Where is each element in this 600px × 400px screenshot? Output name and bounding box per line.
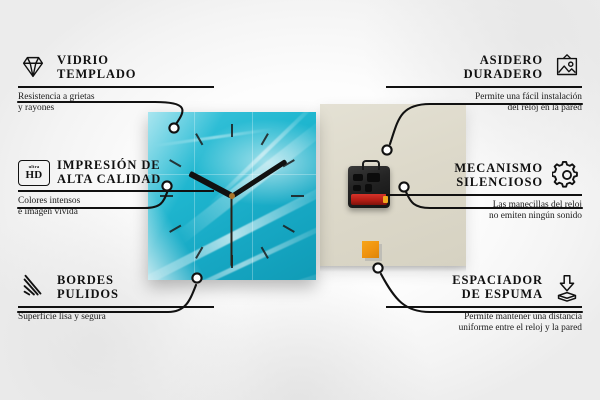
feature-desc-line1: Superficie lisa y segura (18, 312, 214, 324)
foam-spacer (362, 241, 379, 258)
feature-espaciador-de-espuma: ESPACIADOR DE ESPUMA Permite mantener un… (386, 272, 582, 335)
feature-asidero-duradero: ASIDERO DURADERO Permite una fácil insta… (386, 52, 582, 115)
feature-title: BORDES PULIDOS (57, 273, 119, 301)
polished-edges-icon (18, 272, 48, 302)
feature-desc-line1: Las manecillas del reloj (386, 200, 582, 212)
feature-title: IMPRESIÓN DE ALTA CALIDAD (57, 158, 161, 186)
feature-divider (386, 86, 582, 88)
feature-heading: ultra HD IMPRESIÓN DE ALTA CALIDAD (18, 158, 214, 186)
feature-divider (18, 86, 214, 88)
movement-slot (365, 184, 372, 192)
feature-desc-line2: y rayones (18, 103, 214, 115)
feature-title: VIDRIO TEMPLADO (57, 53, 136, 81)
infographic-canvas: VIDRIO TEMPLADO Resistencia a grietas y … (0, 0, 600, 400)
hour-tick (232, 195, 304, 197)
ultra-hd-icon: ultra HD (18, 160, 48, 184)
feature-desc-line2: no emiten ningún sonido (386, 211, 582, 223)
feature-divider (386, 194, 582, 196)
movement-slot (353, 174, 363, 181)
foam-spacer-icon (552, 272, 582, 302)
feature-desc-line2: uniforme entre el reloj y la pared (386, 323, 582, 335)
ultra-hd-large-label: HD (25, 170, 42, 181)
feature-desc-line1: Permite una fácil instalación (386, 92, 582, 104)
feature-divider (18, 306, 214, 308)
feature-desc-line2: del reloj en la pared (386, 103, 582, 115)
gear-icon (552, 160, 582, 190)
movement-slot (353, 185, 361, 191)
print-streak (154, 128, 273, 148)
feature-impresion-alta-calidad: ultra HD IMPRESIÓN DE ALTA CALIDAD Color… (18, 158, 214, 219)
clock-battery (351, 194, 387, 205)
diamond-icon (18, 52, 48, 82)
wall-hanger (362, 160, 380, 170)
feature-title: ASIDERO DURADERO (464, 53, 543, 81)
feature-desc-line2: e imagen vívida (18, 207, 214, 219)
feature-title: MECANISMO SILENCIOSO (454, 161, 543, 189)
feature-heading: ESPACIADOR DE ESPUMA (386, 272, 582, 302)
feature-vidrio-templado: VIDRIO TEMPLADO Resistencia a grietas y … (18, 52, 214, 115)
feature-heading: MECANISMO SILENCIOSO (386, 160, 582, 190)
feature-bordes-pulidos: BORDES PULIDOS Superficie lisa y segura (18, 272, 214, 323)
feature-title: ESPACIADOR DE ESPUMA (452, 273, 543, 301)
picture-hanger-icon (552, 52, 582, 82)
movement-slot (367, 173, 380, 182)
clock-movement (348, 166, 390, 208)
feature-desc-line1: Resistencia a grietas (18, 92, 214, 104)
feature-divider (18, 190, 214, 192)
clock-hub (229, 193, 235, 199)
hour-tick (231, 124, 233, 196)
feature-divider (386, 306, 582, 308)
feature-heading: BORDES PULIDOS (18, 272, 214, 302)
feature-desc-line1: Colores intensos (18, 196, 214, 208)
feature-heading: VIDRIO TEMPLADO (18, 52, 214, 82)
feature-desc-line1: Permite mantener una distancia (386, 312, 582, 324)
feature-mecanismo-silencioso: MECANISMO SILENCIOSO Las manecillas del … (386, 160, 582, 223)
feature-heading: ASIDERO DURADERO (386, 52, 582, 82)
